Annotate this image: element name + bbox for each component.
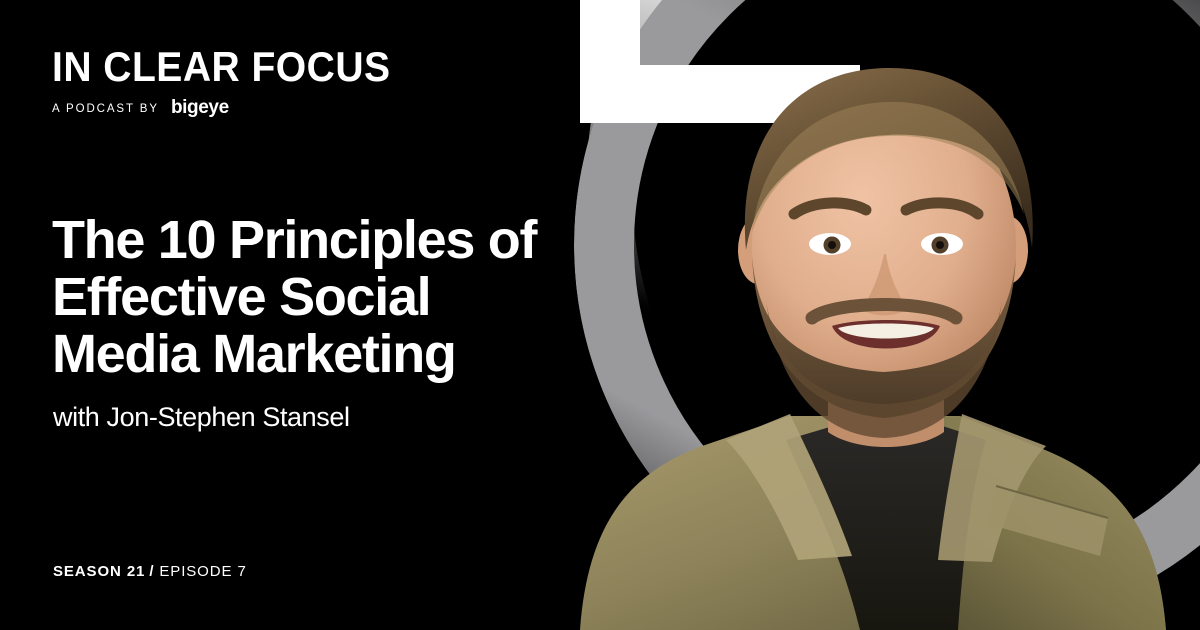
byline-row: A PODCAST BY bigeye (52, 99, 416, 118)
episode-label: EPISODE 7 (159, 563, 246, 580)
footer-separator: / (145, 563, 159, 580)
guest-credit: with Jon-Stephen Stansel (53, 402, 350, 433)
season-episode-footer: SEASON 21 / EPISODE 7 (53, 563, 247, 580)
headline-line-2: Effective Social (52, 269, 612, 326)
show-title: IN CLEAR FOCUS (52, 46, 391, 88)
bigeye-logo: bigeye (171, 98, 229, 117)
headline-line-1: The 10 Principles of (52, 212, 612, 269)
podcast-cover-art: IN CLEAR FOCUS A PODCAST BY bigeye The 1… (0, 0, 1200, 630)
episode-headline: The 10 Principles of Effective Social Me… (52, 212, 612, 383)
season-label: SEASON 21 (53, 563, 145, 580)
cover-content: IN CLEAR FOCUS A PODCAST BY bigeye The 1… (0, 0, 1200, 630)
brand-lockup: IN CLEAR FOCUS A PODCAST BY bigeye (52, 46, 416, 118)
headline-line-3: Media Marketing (52, 326, 612, 383)
byline-text: A PODCAST BY (52, 103, 159, 115)
